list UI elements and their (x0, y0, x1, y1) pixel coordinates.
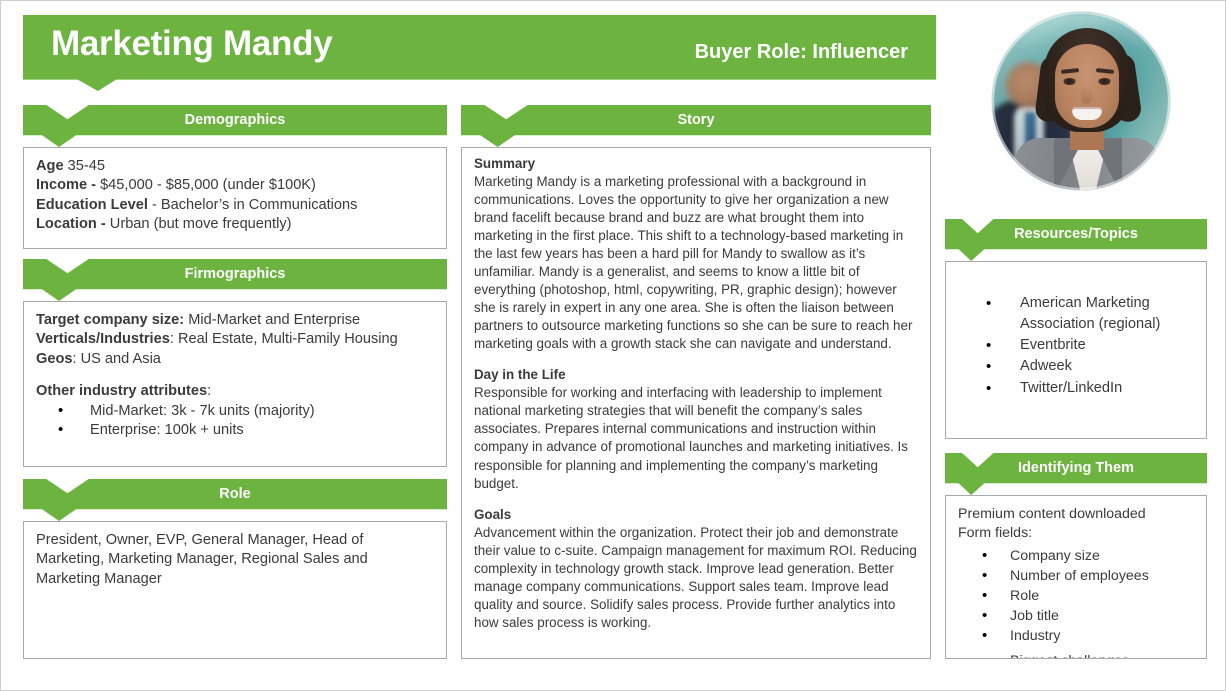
firmographics-row-label: Geos (36, 351, 73, 367)
demographics-row: Income - $45,000 - $85,000 (under $100K) (36, 176, 434, 195)
demographics-row-value: Urban (but move frequently) (106, 216, 292, 232)
firmographics-attribute-list: Mid-Market: 3k - 7k units (majority) Ent… (36, 402, 434, 441)
banner-role-label: Role (219, 479, 250, 502)
firmographics-row-label: Verticals/Industries (36, 331, 170, 347)
banner-firmographics-label: Firmographics (185, 259, 286, 282)
demographics-row: Education Level - Bachelor’s in Communic… (36, 196, 434, 215)
demographics-row-label: Income - (36, 177, 96, 193)
list-item: Number of employees (958, 566, 1196, 586)
firmographics-gap (36, 369, 434, 382)
list-item: Role (958, 586, 1196, 606)
story-body: Marketing Mandy is a marketing professio… (474, 173, 919, 353)
demographics-row-label: Education Level (36, 197, 148, 213)
page-title: Marketing Mandy (23, 15, 332, 63)
list-item: Mid-Market: 3k - 7k units (majority) (36, 402, 434, 421)
persona-sheet: Marketing Mandy Buyer Role: Influencer D… (0, 0, 1226, 691)
portrait-nose (1081, 86, 1092, 104)
list-item: Job title (958, 606, 1196, 626)
banner-identifying-them-label: Identifying Them (1018, 453, 1134, 476)
panel-story: Summary Marketing Mandy is a marketing p… (461, 147, 931, 659)
panel-demographics: Age 35-45 Income - $45,000 - $85,000 (un… (23, 147, 447, 249)
demographics-row-value: $45,000 - $85,000 (under $100K) (96, 177, 316, 193)
list-item: Company size (958, 546, 1196, 566)
list-item: Twitter/LinkedIn (958, 378, 1196, 399)
identifying-field-list: Company size Number of employees Role Jo… (958, 546, 1196, 659)
banner-resources: Resources/Topics (945, 219, 1207, 261)
firmographics-row: Geos: US and Asia (36, 350, 434, 369)
banner-demographics-label: Demographics (185, 105, 286, 128)
identifying-content: Premium content downloaded Form fields: … (946, 496, 1206, 659)
banner-demographics: Demographics (23, 105, 447, 147)
list-item: American Marketing Association (regional… (958, 293, 1196, 335)
firmographics-row-label: Target company size: (36, 312, 184, 328)
list-item: Biggest challenges (958, 651, 1196, 659)
firmographics-row-value: Mid-Market and Enterprise (184, 312, 360, 328)
banner-resources-label: Resources/Topics (1014, 219, 1138, 242)
role-content: President, Owner, EVP, General Manager, … (24, 522, 446, 597)
persona-title-ribbon: Marketing Mandy Buyer Role: Influencer (23, 15, 936, 91)
story-block: Goals Advancement within the organizatio… (474, 506, 919, 632)
avatar (992, 12, 1170, 190)
firmographics-row-value: : Real Estate, Multi-Family Housing (170, 331, 398, 347)
firmographics-row: Verticals/Industries: Real Estate, Multi… (36, 330, 434, 349)
firmographics-content: Target company size: Mid-Market and Ente… (24, 302, 446, 448)
story-content: Summary Marketing Mandy is a marketing p… (462, 148, 930, 640)
list-item: Adweek (958, 356, 1196, 377)
resources-list: American Marketing Association (regional… (958, 293, 1196, 399)
story-body: Advancement within the organization. Pro… (474, 524, 919, 632)
story-heading: Summary (474, 155, 919, 173)
panel-firmographics: Target company size: Mid-Market and Ente… (23, 301, 447, 467)
story-body: Responsible for working and interfacing … (474, 384, 919, 492)
demographics-row: Location - Urban (but move frequently) (36, 215, 434, 234)
firmographics-attributes-heading: Other industry attributes: (36, 382, 434, 401)
demographics-content: Age 35-45 Income - $45,000 - $85,000 (un… (24, 148, 446, 243)
identifying-intro-line: Premium content downloaded (958, 505, 1196, 524)
demographics-row-value: 35-45 (64, 158, 105, 174)
list-item: Enterprise: 100k + units (36, 421, 434, 440)
demographics-row: Age 35-45 (36, 157, 434, 176)
portrait-eye-right (1098, 78, 1111, 85)
banner-identifying-them: Identifying Them (945, 453, 1207, 495)
identifying-intro-line: Form fields: (958, 524, 1196, 543)
story-block: Day in the Life Responsible for working … (474, 366, 919, 492)
story-heading: Day in the Life (474, 366, 919, 384)
banner-role: Role (23, 479, 447, 521)
story-heading: Goals (474, 506, 919, 524)
panel-resources: American Marketing Association (regional… (945, 261, 1207, 439)
portrait-eye-left (1063, 78, 1076, 85)
firmographics-row: Target company size: Mid-Market and Ente… (36, 311, 434, 330)
banner-firmographics: Firmographics (23, 259, 447, 301)
demographics-row-value: - Bachelor’s in Communications (148, 197, 358, 213)
resources-content: American Marketing Association (regional… (946, 262, 1206, 407)
banner-story-label: Story (677, 105, 714, 128)
firmographics-row-value: : US and Asia (73, 351, 161, 367)
list-item: Industry (958, 626, 1196, 646)
banner-story: Story (461, 105, 931, 147)
story-block: Summary Marketing Mandy is a marketing p… (474, 155, 919, 353)
buyer-role-label: Buyer Role: Influencer (695, 15, 936, 64)
panel-identifying-them: Premium content downloaded Form fields: … (945, 495, 1207, 659)
demographics-row-label: Location - (36, 216, 106, 232)
list-item: Eventbrite (958, 335, 1196, 356)
portrait-smile (1072, 107, 1102, 120)
demographics-row-label: Age (36, 158, 64, 174)
panel-role: President, Owner, EVP, General Manager, … (23, 521, 447, 659)
